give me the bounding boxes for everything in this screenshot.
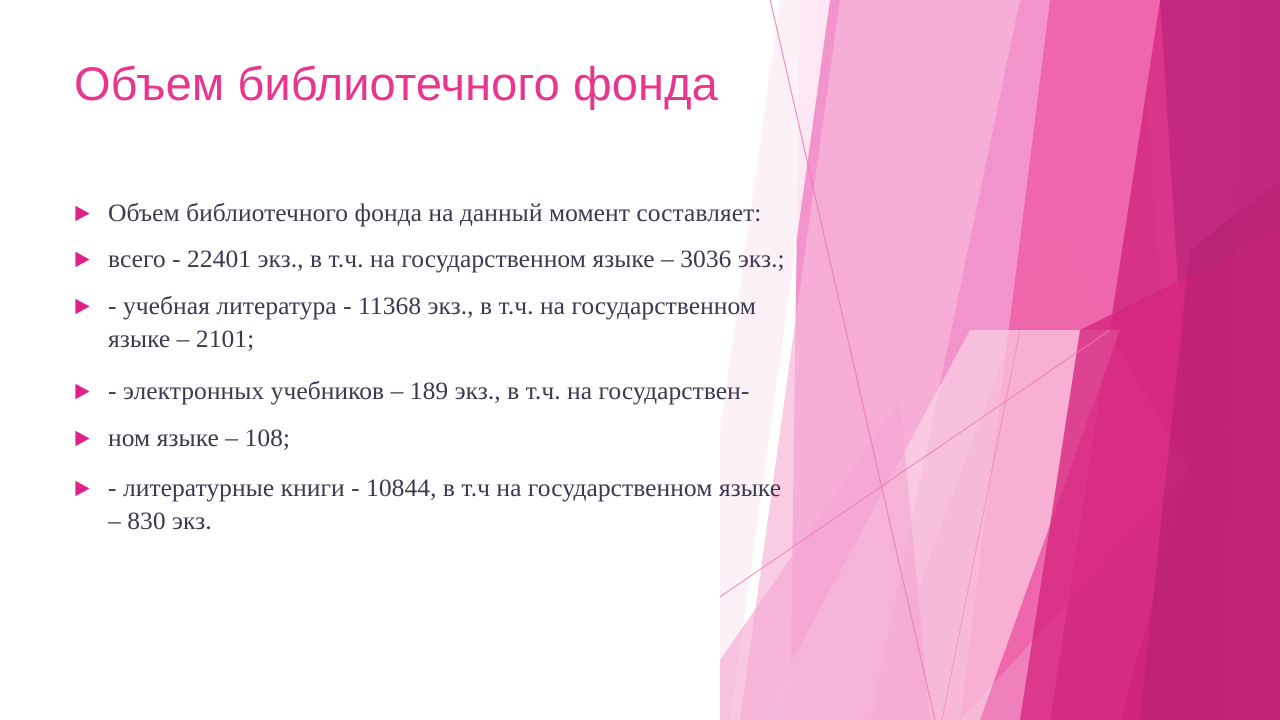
list-item: ном языке – 108; <box>74 421 964 454</box>
list-item-line-2: – 830 экз. <box>108 504 964 537</box>
list-item-line-1: - учебная литература - 11368 экз., в т.ч… <box>108 289 964 322</box>
list-item-line-1: Объем библиотечного фонда на данный моме… <box>108 196 964 229</box>
slide-canvas: Объем библиотечного фонда Объем библиоте… <box>0 0 1280 720</box>
list-item-line-1: всего - 22401 экз., в т.ч. на государств… <box>108 242 964 275</box>
triangle-bullet-icon <box>74 196 108 222</box>
list-item: Объем библиотечного фонда на данный моме… <box>74 196 964 229</box>
list-item: - литературные книги - 10844, в т.ч на г… <box>74 471 964 537</box>
deco-shape-right-stripe <box>1225 0 1280 720</box>
list-item-line-1: ном языке – 108; <box>108 421 964 454</box>
list-item-text: - учебная литература - 11368 экз., в т.ч… <box>108 289 964 355</box>
deco-shape-bottom-shadow <box>1140 180 1280 720</box>
list-item-line-1: - литературные книги - 10844, в т.ч на г… <box>108 471 964 504</box>
list-item-text: Объем библиотечного фонда на данный моме… <box>108 196 964 229</box>
bullet-list: Объем библиотечного фонда на данный моме… <box>74 196 964 537</box>
list-item-text: - литературные книги - 10844, в т.ч на г… <box>108 471 964 537</box>
list-item-text: - электронных учебников – 189 экз., в т.… <box>108 374 964 407</box>
list-item-text: ном языке – 108; <box>108 421 964 454</box>
list-item: - учебная литература - 11368 экз., в т.ч… <box>74 289 964 355</box>
list-item: - электронных учебников – 189 экз., в т.… <box>74 374 964 407</box>
deco-shape-lower-right-triangle <box>1020 230 1280 720</box>
triangle-bullet-icon <box>74 374 108 400</box>
triangle-bullet-icon <box>74 471 108 497</box>
list-item-line-2: языке – 2101; <box>108 322 964 355</box>
triangle-bullet-icon <box>74 289 108 315</box>
list-item-line-1: - электронных учебников – 189 экз., в т.… <box>108 374 964 407</box>
triangle-bullet-icon <box>74 242 108 268</box>
slide-title: Объем библиотечного фонда <box>74 58 854 111</box>
list-item-text: всего - 22401 экз., в т.ч. на государств… <box>108 242 964 275</box>
deco-shape-magenta-wedge <box>1140 0 1280 720</box>
deco-shape-hotpink-facet <box>960 0 1190 720</box>
list-item: всего - 22401 экз., в т.ч. на государств… <box>74 242 964 275</box>
deco-shape-deep-right <box>1050 0 1280 720</box>
triangle-bullet-icon <box>74 421 108 447</box>
